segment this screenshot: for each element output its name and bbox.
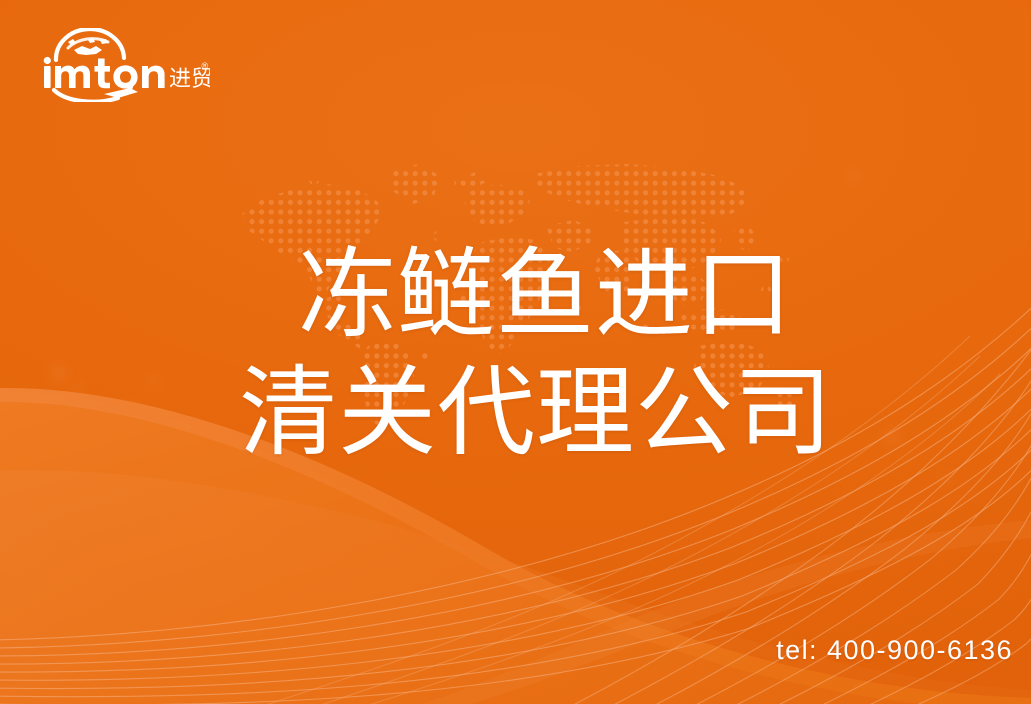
globe-arc-icon bbox=[56, 29, 124, 60]
registered-trademark-icon: ® bbox=[202, 61, 209, 71]
page-title: 冻鲢鱼进口 清关代理公司 bbox=[0, 236, 845, 471]
brand-logo[interactable]: 进贸通 ® bbox=[38, 28, 210, 102]
contact-telephone[interactable]: tel: 400-900-6136 bbox=[776, 635, 1013, 666]
bokeh-dot bbox=[940, 474, 951, 485]
swoosh-arrow-icon bbox=[54, 84, 138, 102]
bokeh-dot bbox=[848, 170, 860, 182]
headline-line-2: 清关代理公司 bbox=[0, 354, 845, 472]
banner-canvas: 进贸通 ® 冻鲢鱼进口 清关代理公司 tel: 400-900-6136 bbox=[0, 0, 1031, 704]
bokeh-dot bbox=[884, 430, 900, 446]
headline-line-1: 冻鲢鱼进口 bbox=[0, 236, 845, 354]
logo-wordmark bbox=[44, 57, 165, 89]
